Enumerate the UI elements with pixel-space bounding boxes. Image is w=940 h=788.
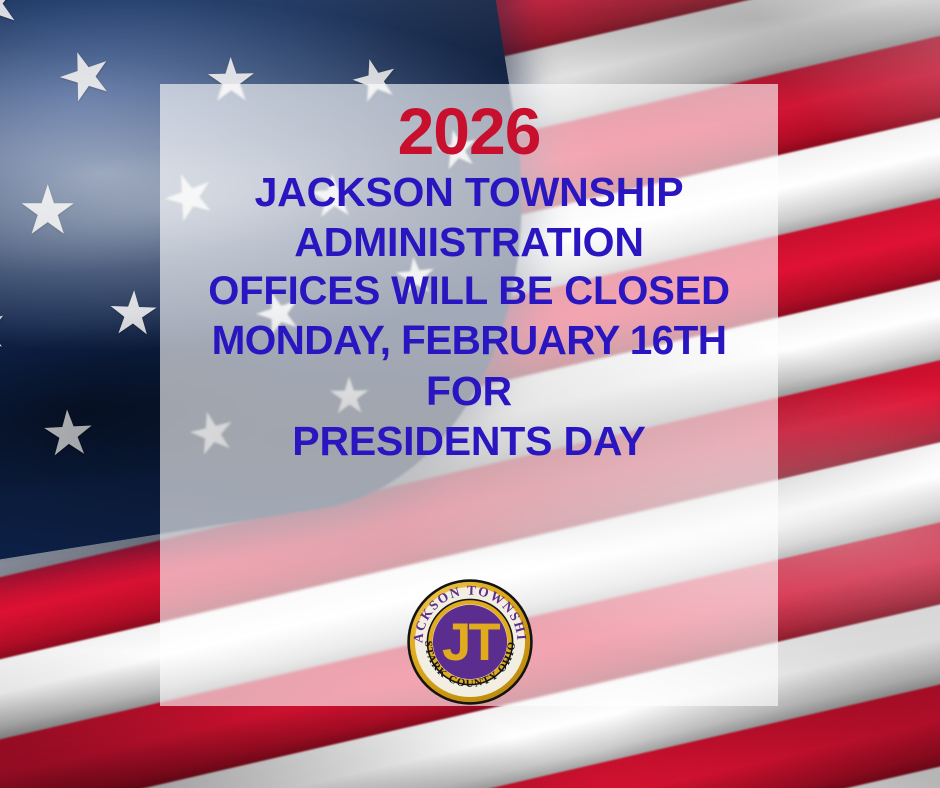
township-seal: JACKSON TOWNSHIP STARK COUNTY OHIO JT <box>406 578 534 706</box>
notice-line-2: ADMINISTRATION <box>294 217 643 267</box>
seal-icon: JACKSON TOWNSHIP STARK COUNTY OHIO JT <box>406 578 534 706</box>
poster-canvas: ★★★★★★★★★★★★★★★★★★★ 2026 JACKSON TOWNSHI… <box>0 0 940 788</box>
notice-line-1: JACKSON TOWNSHIP <box>255 167 684 217</box>
seal-monogram: JT <box>442 613 501 672</box>
notice-line-5: FOR <box>426 366 512 416</box>
notice-line-4: MONDAY, FEBRUARY 16TH <box>212 316 727 365</box>
notice-year: 2026 <box>398 98 541 165</box>
notice-line-6: PRESIDENTS DAY <box>292 416 645 466</box>
notice-line-3: OFFICES WILL BE CLOSED <box>208 267 730 316</box>
